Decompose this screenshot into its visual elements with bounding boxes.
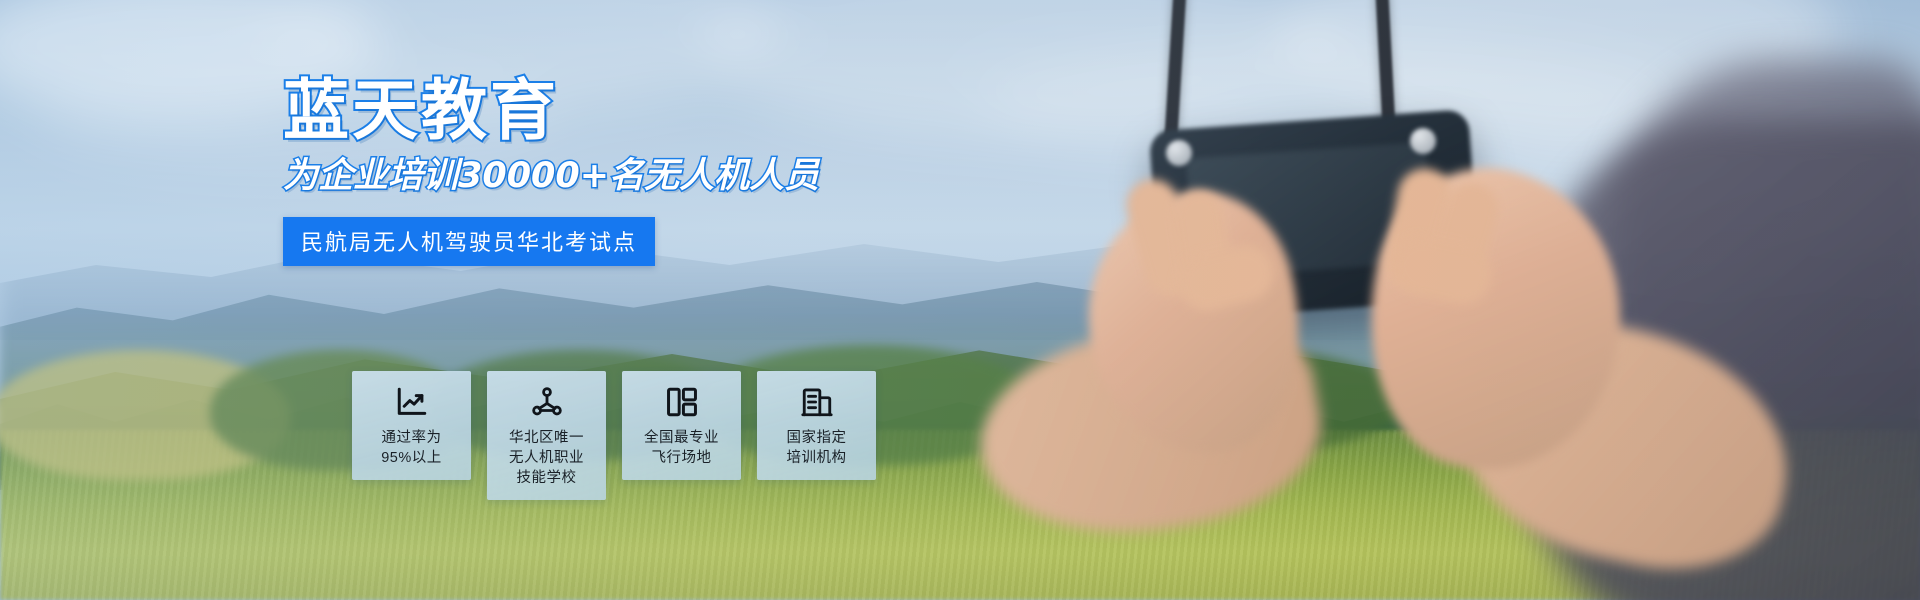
feature-card-pass-rate[interactable]: 通过率为 95%以上: [352, 371, 471, 480]
hero-subtitle: 为企业培训30000+名无人机人员: [283, 158, 983, 195]
feature-card-state-designated[interactable]: 国家指定 培训机构: [757, 371, 876, 480]
status-badge: 民航局无人机驾驶员华北考试点: [283, 217, 655, 266]
feature-card-label: 全国最专业 飞行场地: [644, 428, 719, 468]
feature-card-label: 通过率为 95%以上: [381, 428, 442, 468]
page-title: 蓝天教育: [283, 78, 983, 144]
drone-operator-photo: [940, 0, 1920, 600]
layout-panels-icon: [665, 385, 699, 419]
hero-banner: 蓝天教育 为企业培训30000+名无人机人员 民航局无人机驾驶员华北考试点 通过…: [0, 0, 1920, 600]
control-stick-left: [1166, 140, 1192, 166]
feature-card-label: 华北区唯一 无人机职业 技能学校: [509, 428, 584, 488]
feature-card-flight-field[interactable]: 全国最专业 飞行场地: [622, 371, 741, 480]
hero-copy-block: 蓝天教育 为企业培训30000+名无人机人员 民航局无人机驾驶员华北考试点: [283, 78, 983, 266]
feature-card-label: 国家指定 培训机构: [787, 428, 847, 468]
feature-card-only-school[interactable]: 华北区唯一 无人机职业 技能学校: [487, 371, 606, 500]
feature-card-list: 通过率为 95%以上 华北区唯一 无人机职业 技能学校: [352, 371, 876, 500]
network-nodes-icon: [530, 385, 564, 419]
control-stick-right: [1410, 128, 1436, 154]
chart-trending-up-icon: [395, 385, 429, 419]
building-office-icon: [800, 385, 834, 419]
